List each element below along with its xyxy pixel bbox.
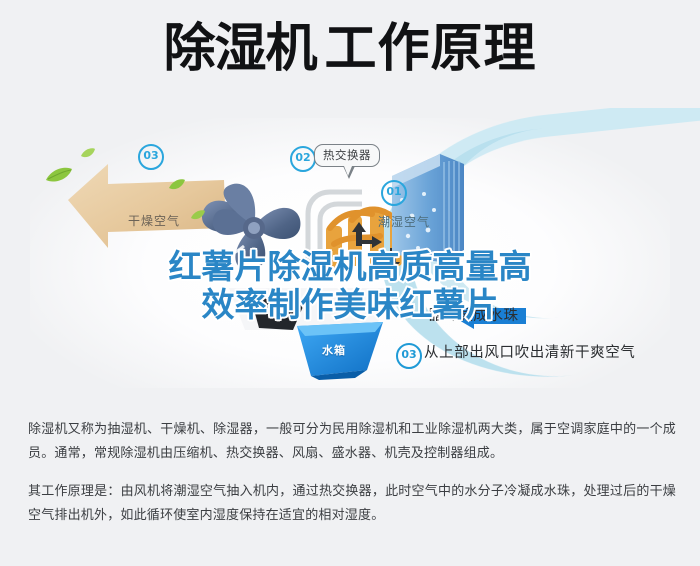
water-tank-label: 水箱 [322,342,346,358]
step-badge-01: 01 [381,180,407,206]
leaf-icon [80,146,96,164]
infographic-page: 除湿机工作原理 [0,0,700,566]
leaf-icon [44,166,74,189]
step-badge-02: 02 [290,146,316,172]
step-02-description: 器冷凝成水珠 [428,304,519,325]
fan-icon [196,168,314,278]
leaf-icon [190,208,206,226]
title-part-2: 工作原理 [325,19,537,79]
humid-air-label: 潮湿空气 [378,213,430,230]
step-badge-03-bottom: 03 [396,343,422,369]
heat-exchanger-callout: 热交换器 [314,144,380,167]
title-text: 除湿机工作原理 [163,22,536,77]
title-part-1: 除湿机 [163,19,316,79]
step-03-description: 从上部出风口吹出清新干爽空气 [424,341,635,362]
article-body: 除湿机又称为抽湿机、干燥机、除湿器，一般可分为民用除湿机和工业除湿机两大类，属于… [28,418,676,528]
dry-air-label: 干燥空气 [128,212,180,229]
body-paragraph-2: 其工作原理是：由风机将潮湿空气抽入机内，通过热交换器，此时空气中的水分子冷凝成水… [28,480,676,528]
dehumidifier-diagram: 水箱 03 02 01 03 热交换器 [0,108,700,398]
page-title: 除湿机工作原理 [0,22,700,77]
leaf-icon [168,178,186,196]
body-paragraph-1: 除湿机又称为抽湿机、干燥机、除湿器，一般可分为民用除湿机和工业除湿机两大类，属于… [28,418,676,466]
step-badge-03-top: 03 [138,144,164,170]
